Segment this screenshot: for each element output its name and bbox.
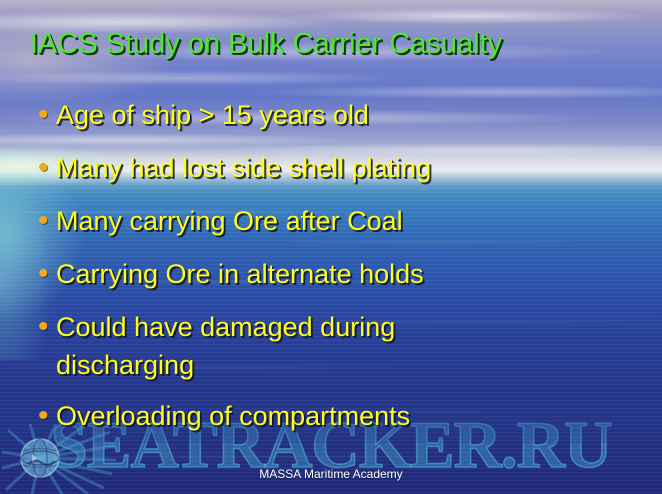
bullet-dot-icon: •: [34, 255, 56, 293]
list-item: • Could have damaged during discharging: [34, 308, 594, 384]
list-item: • Many carrying Ore after Coal: [34, 202, 594, 240]
bullet-dot-icon: •: [34, 96, 56, 134]
bullet-dot-icon: •: [34, 202, 56, 240]
bullet-dot-icon: •: [34, 308, 56, 346]
slide-title: IACS Study on Bulk Carrier Casualty: [30, 27, 630, 61]
list-item-text: Overloading of compartments: [56, 397, 594, 435]
list-item-text: Carrying Ore in alternate holds: [56, 255, 594, 293]
list-item-text: Age of ship > 15 years old: [56, 96, 594, 134]
bullet-dot-icon: •: [34, 149, 56, 187]
list-item-text: Many carrying Ore after Coal: [56, 202, 594, 240]
list-item-text: Many had lost side shell plating: [56, 149, 594, 187]
list-item: • Age of ship > 15 years old: [34, 96, 594, 134]
list-item: • Carrying Ore in alternate holds: [34, 255, 594, 293]
bullet-dot-icon: •: [34, 397, 56, 435]
list-item: • Overloading of compartments: [34, 397, 594, 435]
list-item: • Many had lost side shell plating: [34, 149, 594, 187]
slide-footer: MASSA Maritime Academy: [0, 467, 662, 481]
list-item-text: Could have damaged during discharging: [56, 308, 486, 384]
bullet-list: • Age of ship > 15 years old • Many had …: [34, 96, 594, 450]
presentation-slide: SEATRACKER.RU IACS Study on Bulk Carrier…: [0, 0, 662, 494]
